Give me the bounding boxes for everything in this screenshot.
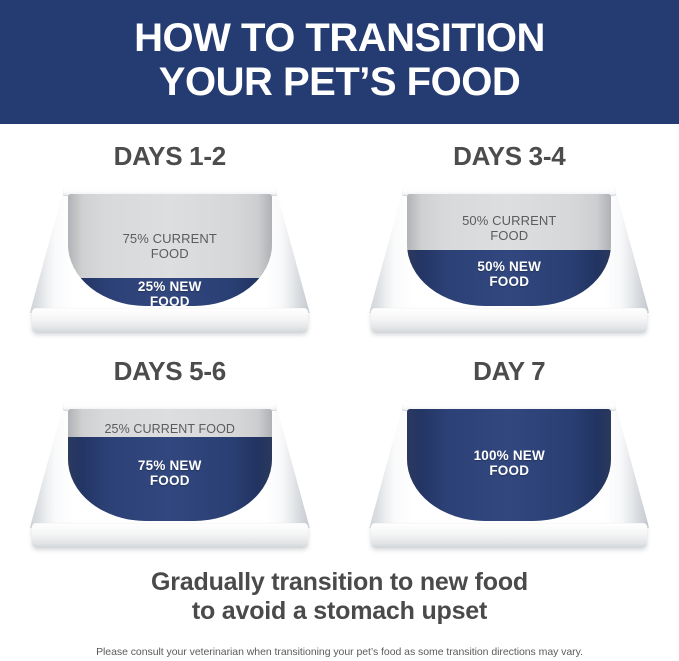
new-food-fill: 75% NEW FOOD — [68, 437, 272, 521]
bowl-food-well-1: 75% CURRENT FOOD 25% NEW FOOD — [68, 194, 272, 306]
step-1-label: DAYS 1-2 — [0, 124, 340, 179]
tagline-text: Gradually transition to new food to avoi… — [0, 554, 679, 626]
current-food-fill: 50% CURRENT FOOD — [407, 194, 611, 250]
food-bowl-2: 50% CURRENT FOOD 50% NEW FOOD — [369, 185, 649, 333]
footer: Gradually transition to new food to avoi… — [0, 554, 679, 658]
current-food-fill: 75% CURRENT FOOD — [68, 194, 272, 278]
transition-step-3: DAYS 5-6 25% CURRENT FOOD 75% NEW FOOD — [0, 339, 340, 554]
bowl-food-well-4: 100% NEW FOOD — [407, 409, 611, 521]
step-3-label: DAYS 5-6 — [0, 339, 340, 394]
bowl-base — [371, 309, 647, 333]
new-food-label: 25% NEW FOOD — [68, 279, 272, 306]
current-food-label: 75% CURRENT FOOD — [68, 231, 272, 261]
new-food-label: 75% NEW FOOD — [68, 458, 272, 488]
new-food-fill: 50% NEW FOOD — [407, 250, 611, 306]
bowl-food-well-2: 50% CURRENT FOOD 50% NEW FOOD — [407, 194, 611, 306]
transition-step-4: DAY 7 100% NEW FOOD — [340, 339, 679, 554]
page-title: HOW TO TRANSITION YOUR PET’S FOOD — [134, 16, 545, 104]
transition-steps-grid: DAYS 1-2 75% CURRENT FOOD 25% NEW FOOD D… — [0, 124, 679, 554]
bowl-base — [371, 524, 647, 548]
bowl-base — [32, 524, 308, 548]
step-4-label: DAY 7 — [340, 339, 679, 394]
current-food-fill: 25% CURRENT FOOD — [68, 409, 272, 437]
bowl-food-well-3: 25% CURRENT FOOD 75% NEW FOOD — [68, 409, 272, 521]
new-food-label: 100% NEW FOOD — [407, 448, 611, 478]
bowl-base — [32, 309, 308, 333]
new-food-label: 50% NEW FOOD — [407, 259, 611, 289]
food-bowl-3: 25% CURRENT FOOD 75% NEW FOOD — [30, 400, 310, 548]
new-food-fill: 100% NEW FOOD — [407, 409, 611, 521]
food-bowl-1: 75% CURRENT FOOD 25% NEW FOOD — [30, 185, 310, 333]
step-2-label: DAYS 3-4 — [340, 124, 679, 179]
transition-step-2: DAYS 3-4 50% CURRENT FOOD 50% NEW FOOD — [340, 124, 679, 339]
new-food-fill: 25% NEW FOOD — [68, 278, 272, 306]
header-banner: HOW TO TRANSITION YOUR PET’S FOOD — [0, 0, 679, 124]
current-food-label: 25% CURRENT FOOD — [68, 422, 272, 437]
transition-step-1: DAYS 1-2 75% CURRENT FOOD 25% NEW FOOD — [0, 124, 340, 339]
current-food-label: 50% CURRENT FOOD — [407, 213, 611, 243]
disclaimer-text: Please consult your veterinarian when tr… — [0, 626, 679, 658]
food-bowl-4: 100% NEW FOOD — [369, 400, 649, 548]
